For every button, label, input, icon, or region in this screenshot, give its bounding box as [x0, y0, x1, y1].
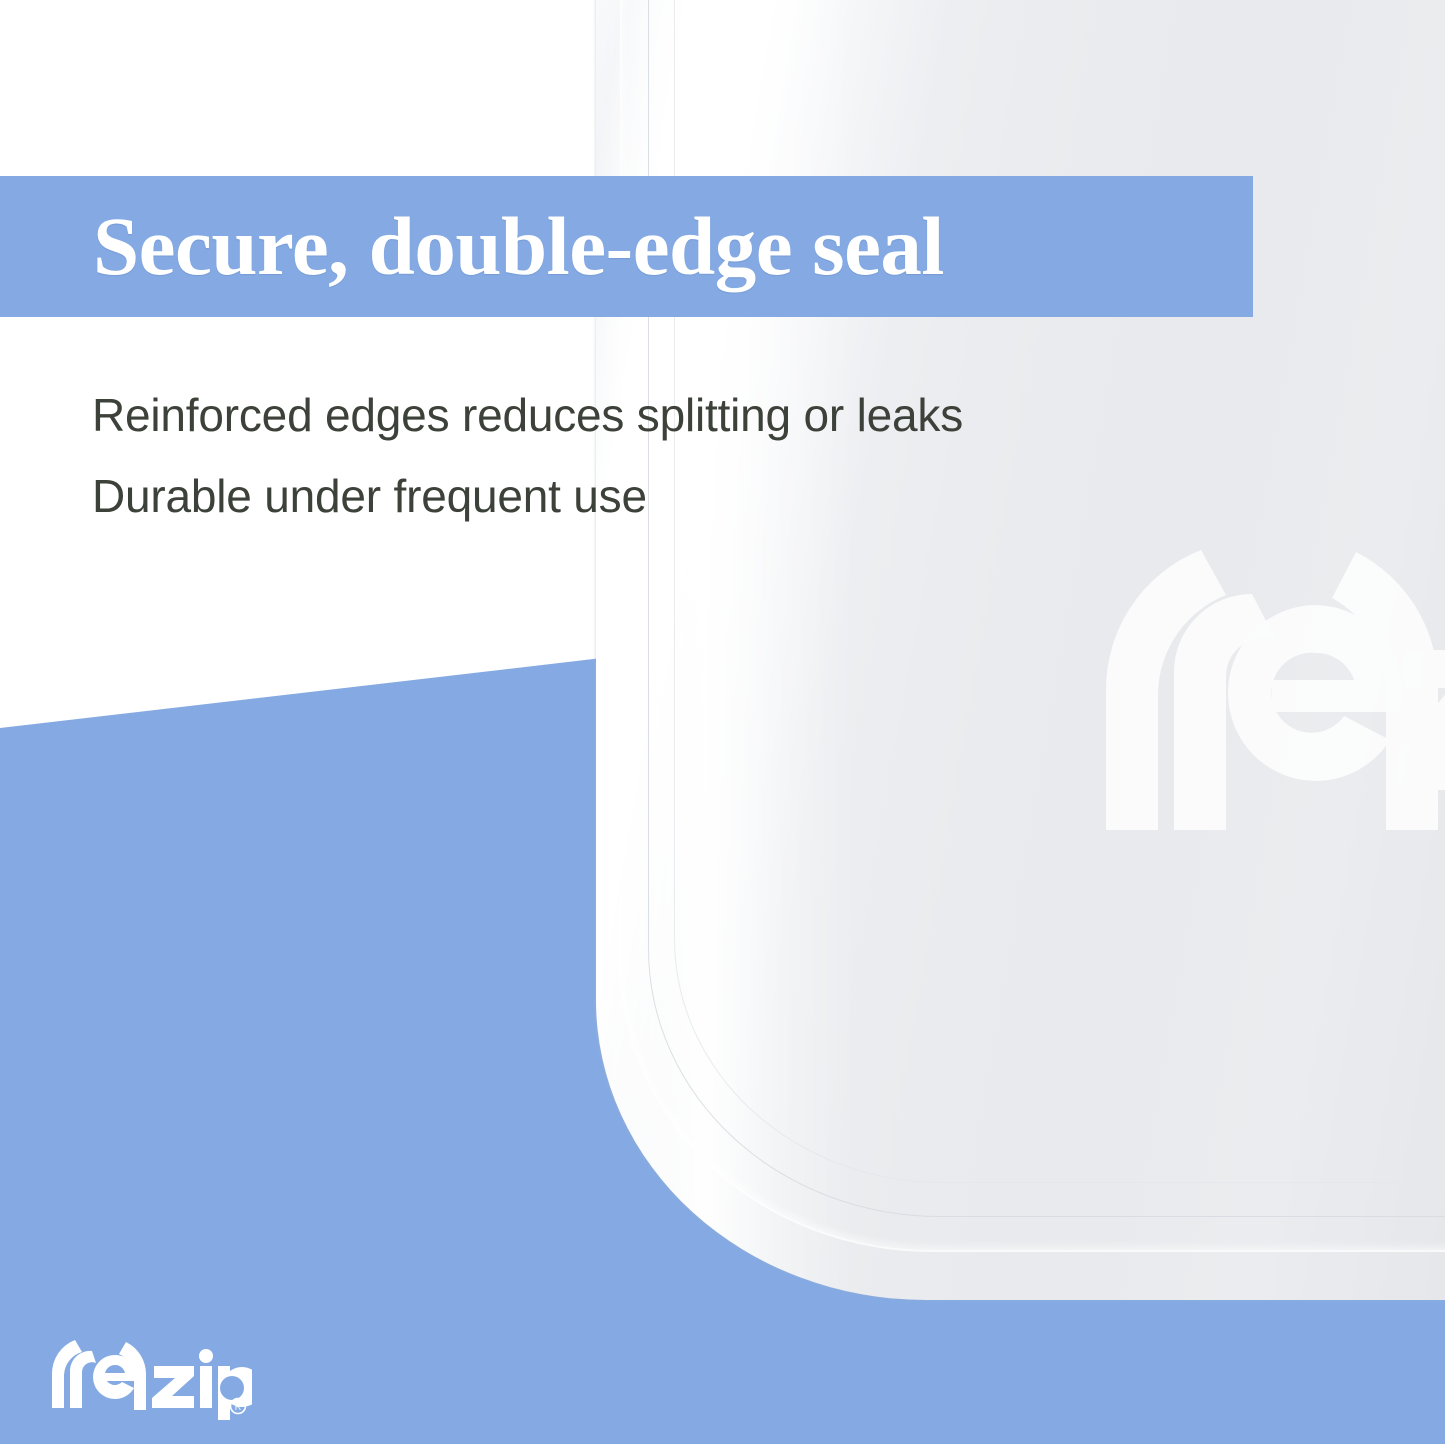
headline-title: Secure, double-edge seal [93, 205, 944, 288]
headline-banner: Secure, double-edge seal [0, 176, 1253, 317]
feature-line-2: Durable under frequent use [92, 456, 963, 537]
feature-list: Reinforced edges reduces splitting or le… [92, 375, 963, 537]
product-watermark-rezip-icon [986, 500, 1445, 830]
svg-text:R: R [235, 1402, 242, 1412]
brand-logo-rezip: R [42, 1330, 252, 1422]
feature-line-1: Reinforced edges reduces splitting or le… [92, 375, 963, 456]
feature-graphic-canvas: Secure, double-edge seal Reinforced edge… [0, 0, 1445, 1444]
